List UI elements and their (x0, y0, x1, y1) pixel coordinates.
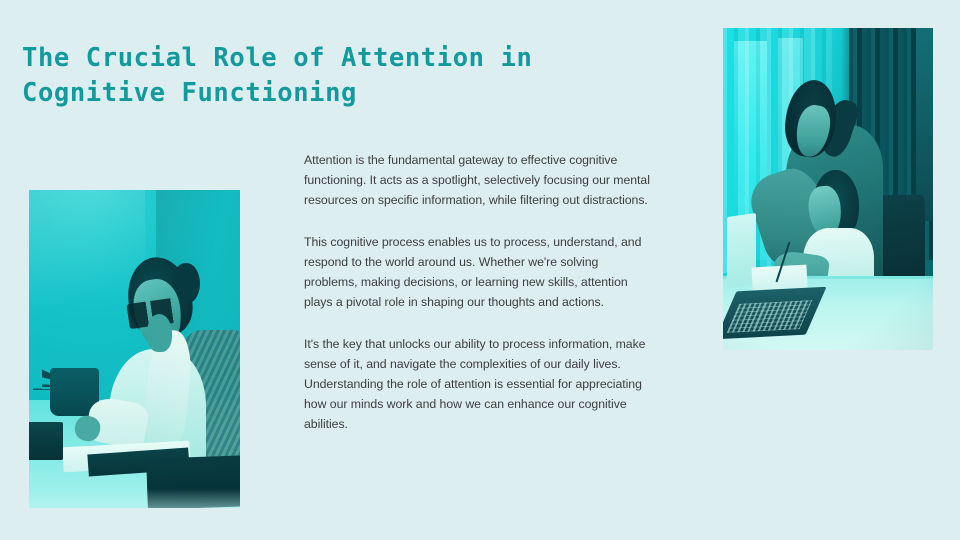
photo-woman-raised-arm (141, 328, 195, 446)
photo-adult-face (792, 103, 832, 159)
photo-window-pane-right (778, 38, 803, 231)
photo-desk-tablet (87, 447, 190, 476)
photo-woman-writing-hand (73, 413, 104, 444)
photo-wall-highlight (29, 190, 145, 336)
photo-woman-face (129, 276, 187, 353)
photo-desk-device (29, 422, 63, 460)
photo-child-face (806, 184, 843, 239)
photo-child-hair (813, 170, 859, 241)
photo-desk-papers (62, 441, 190, 473)
photo-wall-corner-shadow (156, 190, 240, 374)
photo-desk-front (29, 467, 240, 508)
body-text-column: Attention is the fundamental gateway to … (304, 150, 652, 434)
photo-adult-head (781, 76, 842, 160)
photo-adult-torso (786, 125, 883, 292)
photo-child-shirt (803, 228, 874, 305)
photo-desk-surface (29, 400, 240, 508)
photo-pen (775, 241, 790, 281)
photo-adult-pointing-arm (743, 161, 841, 275)
presentation-slide: The Crucial Role of Attention in Cogniti… (0, 0, 960, 540)
woman-studying-at-desk-photo (29, 190, 240, 508)
photo-woman-hair-bun (172, 263, 199, 304)
photo-vignette (723, 28, 933, 350)
photo-woman-forearm (85, 395, 151, 449)
photo-woman-glasses (127, 298, 176, 330)
photo-room-background (723, 28, 933, 350)
photo-plant-pot (50, 368, 99, 416)
adult-helping-child-at-laptop-photo (723, 28, 933, 350)
photo-window-pane-left (734, 41, 768, 260)
photo-chair (874, 195, 924, 311)
photo-adult-ponytail (816, 96, 862, 160)
photo-woman-cardigan (177, 330, 240, 464)
photo-bottom-light-band (29, 489, 240, 508)
photo-curtain-shadow (841, 28, 862, 260)
paragraph-2: This cognitive process enables us to pro… (304, 232, 652, 312)
photo-wall-background (29, 190, 240, 508)
photo-plant-leaves-secondary (33, 339, 96, 390)
photo-child-arm (771, 250, 830, 296)
photo-woman-torso (109, 349, 206, 463)
photo-desk-paper (752, 265, 808, 290)
photo-laptop-keyboard (726, 300, 812, 333)
photo-desk-edge (723, 276, 933, 289)
photo-sheer-curtain (723, 28, 832, 273)
photo-right-wall (916, 28, 933, 221)
slide-title: The Crucial Role of Attention in Cogniti… (22, 41, 682, 111)
photo-dark-curtain (849, 28, 933, 260)
paragraph-3: It's the key that unlocks our ability to… (304, 334, 652, 434)
photo-laptop-screen (727, 213, 756, 288)
photo-desk-laptop (146, 455, 240, 508)
photo-laptop-base (723, 287, 827, 340)
photo-woman-hand-at-face (147, 314, 172, 352)
photo-desk-surface (723, 279, 933, 350)
photo-woman-hair (122, 252, 197, 340)
paragraph-1: Attention is the fundamental gateway to … (304, 150, 652, 210)
photo-plant-leaves (42, 317, 114, 387)
